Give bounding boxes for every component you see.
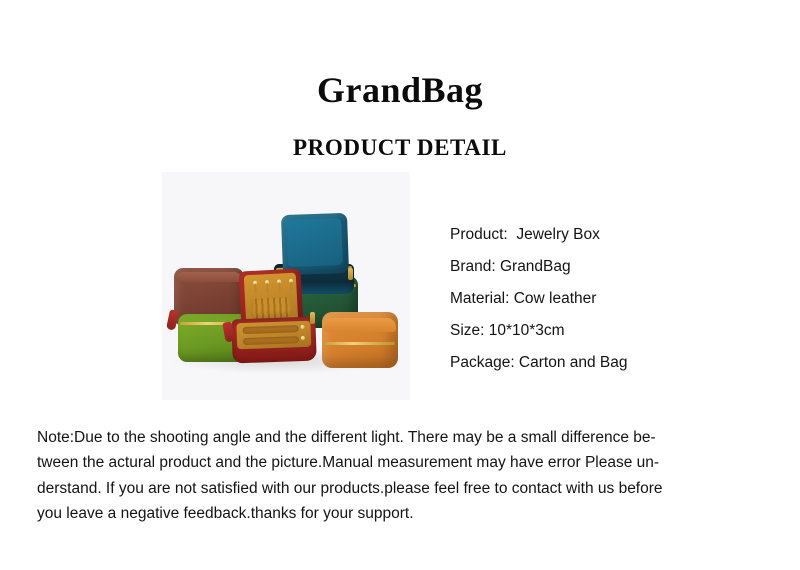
snap-stud-icon — [300, 325, 304, 329]
compartment-slot — [243, 336, 299, 345]
orange-case-lid-seam — [324, 318, 396, 332]
brown-case-lid-seam — [176, 272, 242, 282]
page-title: PRODUCT DETAIL — [0, 135, 800, 161]
note-line: you leave a negative feedback.thanks for… — [37, 501, 770, 526]
ring-stem-icon — [266, 283, 268, 292]
ring-stem-icon — [254, 284, 256, 293]
ring-stem-icon — [278, 282, 280, 291]
spec-line-brand: Brand: GrandBag — [450, 251, 780, 283]
teal-case-lid-panel — [286, 218, 343, 267]
teal-case-zipper-pull — [348, 268, 353, 280]
product-photo — [162, 172, 410, 400]
spec-line-size: Size: 10*10*3cm — [450, 315, 780, 347]
ring-roll-row — [251, 297, 292, 319]
product-spec-list: Product: Jewelry Box Brand: GrandBag Mat… — [450, 219, 780, 379]
teal-case-lid — [281, 213, 349, 275]
note-line: tween the actural product and the pictur… — [37, 450, 770, 475]
compartment-slot — [243, 325, 299, 334]
brand-title: GrandBag — [0, 70, 800, 110]
spec-line-product: Product: Jewelry Box — [450, 219, 780, 251]
note-line: Note:Due to the shooting angle and the d… — [37, 425, 770, 450]
note-paragraph: Note:Due to the shooting angle and the d… — [37, 425, 770, 527]
spec-line-package: Package: Carton and Bag — [450, 347, 780, 379]
red-case-base — [231, 317, 316, 364]
snap-stud-icon — [301, 336, 305, 340]
orange-case-zipper — [325, 342, 395, 345]
spec-line-material: Material: Cow leather — [450, 283, 780, 315]
red-case-zipper-pull — [310, 312, 315, 324]
ring-stem-icon — [290, 282, 292, 291]
note-line: derstand. If you are not satisfied with … — [37, 476, 770, 501]
red-case-base-lining — [236, 321, 311, 350]
photo-stage — [162, 172, 410, 400]
